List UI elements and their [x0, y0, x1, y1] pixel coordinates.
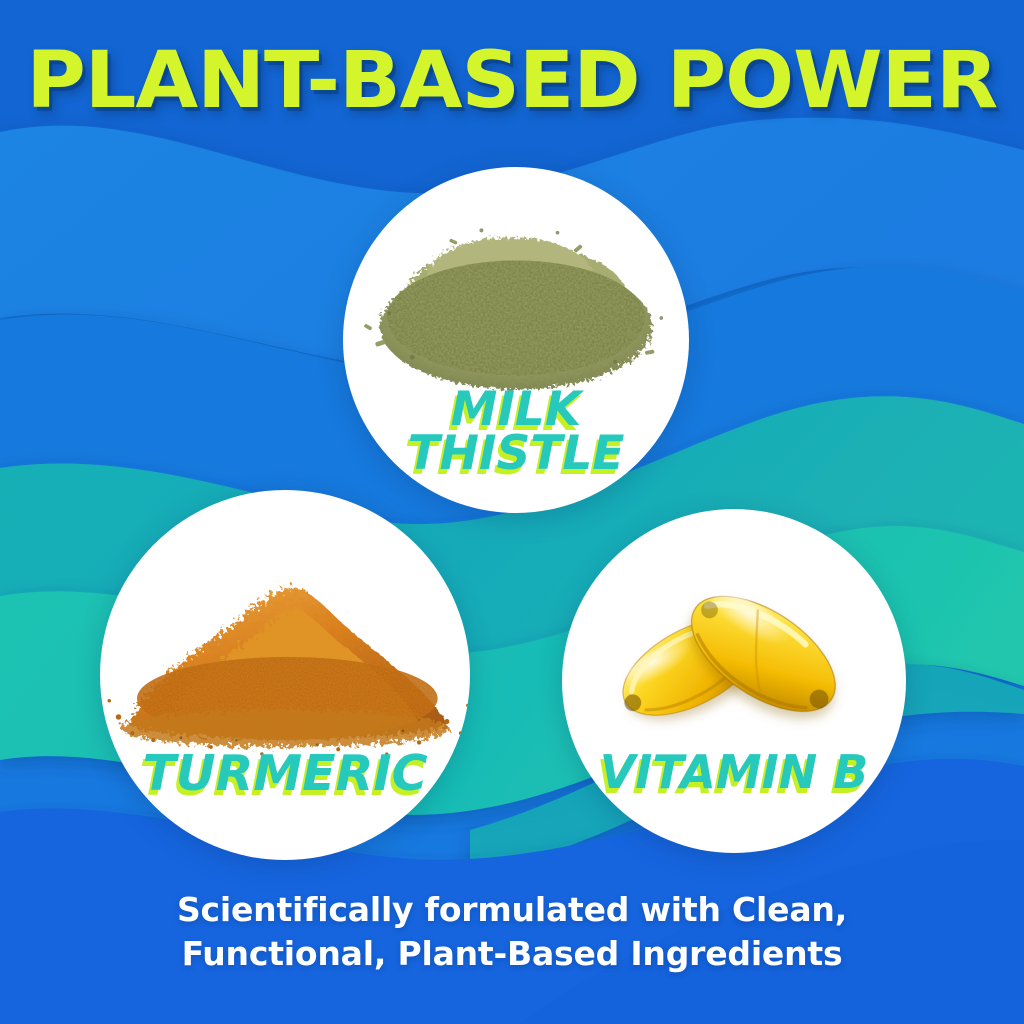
- milk-thistle-herb-image: [343, 205, 689, 401]
- page-title: PLANT-BASED POWER: [26, 42, 997, 120]
- ingredient-label-vitamin-b: VITAMIN B: [562, 751, 906, 795]
- ingredient-card-milk-thistle[interactable]: MILK THISTLE: [343, 167, 689, 513]
- turmeric-powder-image: [100, 548, 470, 768]
- ingredient-label-milk-thistle: MILK THISTLE: [343, 388, 689, 477]
- ingredient-card-turmeric[interactable]: TURMERIC: [100, 490, 470, 860]
- plant-based-power-poster: PLANT-BASED POWER: [0, 0, 1024, 1024]
- poster-caption: Scientifically formulated with Clean, Fu…: [62, 888, 962, 976]
- ingredient-card-vitamin-b[interactable]: VITAMIN B: [562, 509, 906, 853]
- caption-line-2: Functional, Plant-Based Ingredients: [62, 932, 962, 976]
- caption-line-1: Scientifically formulated with Clean,: [62, 888, 962, 932]
- poster-title-container: PLANT-BASED POWER: [0, 42, 1024, 120]
- golden-softgel-capsules-image: [562, 551, 906, 761]
- ingredient-label-turmeric: TURMERIC: [100, 751, 470, 798]
